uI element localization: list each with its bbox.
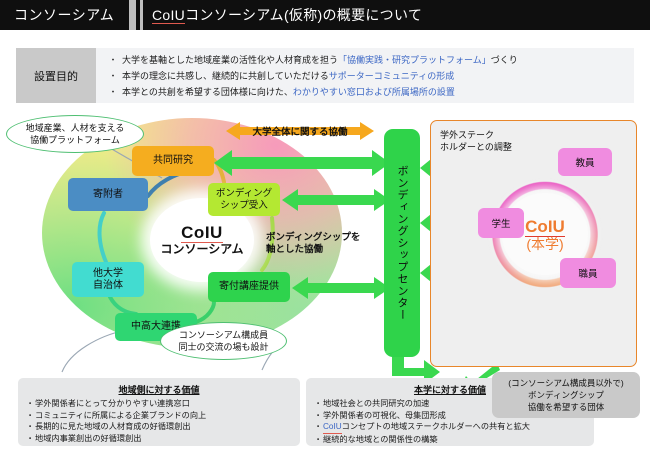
- bondingship-center-bar[interactable]: ボンディングシップセンター: [384, 129, 420, 357]
- slide-root: コンソーシアム CoIUコンソーシアム(仮称)の概要について 設置目的 ・ 大学…: [0, 0, 650, 453]
- bullet-marker: ・: [314, 398, 323, 410]
- bonding-collab-line1: ボンディングシップを: [266, 232, 360, 244]
- orange-arrow-label: 大学全体に関する協働: [226, 124, 374, 138]
- bullet-marker: ・: [26, 398, 35, 410]
- info-item-text: 長期的に見た地域の人材育成の好循環創出: [35, 421, 191, 433]
- bondingship-center-label: ボンディングシップセンター: [384, 129, 420, 357]
- info-item-text: コンセプトの地域ステークホルダーへの共有と拡大: [342, 421, 530, 434]
- node-kifu-kouza[interactable]: 寄付講座提供: [208, 272, 290, 302]
- info-item-text: コミュニティに所属による企業ブランドの向上: [35, 410, 206, 422]
- gray-box-line2: ボンディングシップ: [528, 389, 604, 401]
- gray-box-external-orgs: (コンソーシアム構成員以外で) ボンディングシップ 協働を希望する団体: [492, 372, 640, 418]
- purpose-item: ・ 大学を基軸とした地域産業の活性化や人材育成を担う「協働実践・研究プラットフォ…: [104, 52, 624, 68]
- info-item: ・学外関係者にとって分かりやすい連携窓口: [26, 398, 292, 410]
- purpose-text-a: 大学を基軸とした地域産業の活性化や人材育成を担う: [122, 55, 338, 65]
- node-shokuin[interactable]: 職員: [560, 258, 616, 288]
- bonding-collab-label: ボンディングシップを 軸とした協働: [266, 232, 360, 256]
- bullet-marker: ・: [104, 84, 122, 100]
- purpose-text-b: づくり: [491, 55, 518, 65]
- info-item: ・長期的に見た地域の人材育成の好循環創出: [26, 421, 292, 433]
- info-item: ・地域内事業創出の好循環創出: [26, 433, 292, 445]
- purpose-list: ・ 大学を基軸とした地域産業の活性化や人材育成を担う「協働実践・研究プラットフォ…: [104, 52, 624, 100]
- callout-kouryu-line1: コンソーシアム構成員: [178, 329, 268, 341]
- bullet-marker: ・: [314, 434, 323, 446]
- info-item-text: 地域社会との共同研究の加速: [323, 398, 429, 410]
- info-box-chiiki-title: 地域側に対する価値: [26, 383, 292, 396]
- coiu-core-bottom: (本学): [526, 236, 563, 252]
- node-kyodo-kenkyu[interactable]: 共同研究: [132, 146, 214, 176]
- info-item-text: 継続的な地域との関係性の構築: [323, 434, 438, 446]
- consortium-center-title: CoIU: [181, 224, 223, 242]
- purpose-item: ・ 本学の理念に共感し、継続的に共創していただけるサポーターコミュニティの形成: [104, 68, 624, 84]
- bullet-marker: ・: [26, 433, 35, 445]
- bullet-marker: ・: [104, 52, 122, 68]
- bullet-marker: ・: [314, 421, 323, 434]
- node-bondingship-ukeire[interactable]: ボンディング シップ受入: [208, 183, 280, 216]
- info-item-text: 地域内事業創出の好循環創出: [35, 433, 141, 445]
- purpose-item: ・ 本学との共創を希望する団体様に向けた、わかりやすい窓口および所属場所の設置: [104, 84, 624, 100]
- purpose-item-text: 大学を基軸とした地域産業の活性化や人材育成を担う「協働実践・研究プラットフォーム…: [122, 52, 518, 68]
- node-kifusha[interactable]: 寄附者: [68, 178, 148, 211]
- purpose-band: 設置目的 ・ 大学を基軸とした地域産業の活性化や人材育成を担う「協働実践・研究プ…: [16, 48, 634, 103]
- purpose-text-accent: サポーターコミュニティの形成: [329, 71, 454, 81]
- stakeholder-adjust-line1: 学外ステーク: [440, 129, 550, 141]
- info-box-chiiki: 地域側に対する価値 ・学外関係者にとって分かりやすい連携窓口 ・コミュニティに所…: [18, 378, 300, 446]
- node-kyoin[interactable]: 教員: [558, 148, 612, 176]
- consortium-center-top: CoIU: [181, 223, 223, 243]
- consortium-center-bottom: コンソーシアム: [161, 242, 244, 257]
- header-divider-thin: [140, 0, 143, 30]
- callout-platform-line2: 協働プラットフォーム: [26, 134, 125, 146]
- info-item-text: 学外関係者の可視化、母集団形成: [323, 410, 446, 422]
- coiu-core-title: CoIU: [525, 217, 565, 236]
- purpose-text-a: 本学の理念に共感し、継続的に共創していただける: [122, 71, 329, 81]
- stakeholder-adjust-label: 学外ステーク ホルダーとの調整: [440, 129, 550, 153]
- stakeholder-adjust-line2: ホルダーとの調整: [440, 141, 550, 153]
- purpose-item-text: 本学との共創を希望する団体様に向けた、わかりやすい窓口および所属場所の設置: [122, 84, 455, 100]
- page-title-rest: コンソーシアム(仮称)の概要について: [185, 7, 422, 23]
- gray-box-line3: 協働を希望する団体: [528, 401, 605, 413]
- bullet-marker: ・: [104, 68, 122, 84]
- page-title: CoIUコンソーシアム(仮称)の概要について: [152, 5, 422, 25]
- node-gakusei[interactable]: 学生: [478, 208, 524, 238]
- info-item-text: 学外関係者にとって分かりやすい連携窓口: [35, 398, 190, 410]
- coiu-core-top: CoIU: [525, 217, 565, 237]
- callout-kouryu: コンソーシアム構成員 同士の交流の場も設計: [160, 322, 287, 360]
- info-item: ・コミュニティに所属による企業ブランドの向上: [26, 410, 292, 422]
- bonding-collab-line2: 軸とした協働: [266, 244, 360, 256]
- purpose-label: 設置目的: [16, 48, 96, 103]
- info-item-accent: CoIU: [323, 421, 342, 434]
- page-title-accent: CoIU: [152, 7, 185, 24]
- purpose-item-text: 本学の理念に共感し、継続的に共創していただけるサポーターコミュニティの形成: [122, 68, 454, 84]
- info-item: ・継続的な地域との関係性の構築: [314, 434, 586, 446]
- gray-box-line1: (コンソーシアム構成員以外で): [508, 377, 623, 389]
- info-item: ・CoIUコンセプトの地域ステークホルダーへの共有と拡大: [314, 421, 586, 434]
- node-tadaigaku-jichitai[interactable]: 他大学 自治体: [72, 262, 144, 297]
- bullet-marker: ・: [26, 410, 35, 422]
- header-divider-thick: [129, 0, 136, 30]
- callout-kouryu-line2: 同士の交流の場も設計: [178, 341, 268, 353]
- purpose-text-accent: 「協働実践・研究プラットフォーム」: [338, 55, 491, 65]
- bullet-marker: ・: [26, 421, 35, 433]
- header-bar: コンソーシアム CoIUコンソーシアム(仮称)の概要について: [0, 0, 650, 30]
- purpose-text-accent: わかりやすい窓口および所属場所の設置: [293, 87, 455, 97]
- header-tag: コンソーシアム: [14, 5, 114, 25]
- callout-platform: 地域産業、人材を支える 協働プラットフォーム: [6, 115, 144, 153]
- purpose-text-a: 本学との共創を希望する団体様に向けた、: [122, 87, 293, 97]
- callout-platform-line1: 地域産業、人材を支える: [26, 122, 125, 134]
- bullet-marker: ・: [314, 410, 323, 422]
